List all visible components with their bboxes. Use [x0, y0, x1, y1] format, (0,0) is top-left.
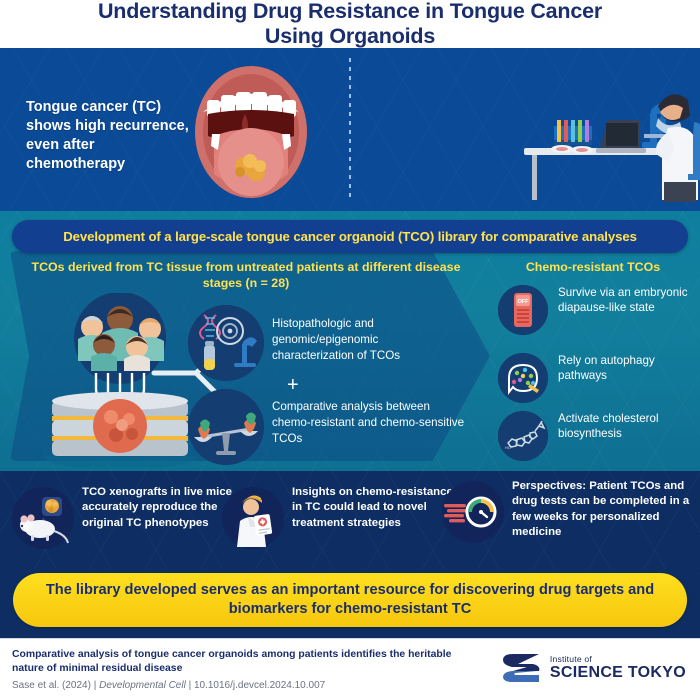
- finding-insights-text: Insights on chemo-resistance in TC could…: [292, 485, 460, 531]
- tongue-cancer-recurrence-text: Tongue cancer (TC) shows high recurrence…: [26, 98, 196, 175]
- main-workflow-panel: Development of a large-scale tongue canc…: [0, 211, 700, 471]
- conclusion-wrapper: The library developed serves as an impor…: [0, 569, 700, 638]
- conclusion-text: The library developed serves as an impor…: [13, 581, 687, 618]
- open-mouth-tongue-tumor-icon: [178, 62, 324, 202]
- footer: Comparative analysis of tongue cancer or…: [0, 638, 700, 700]
- paper-journal: Developmental Cell: [99, 680, 186, 691]
- svg-text:OFF: OFF: [518, 299, 529, 305]
- svg-text:HO: HO: [505, 445, 511, 450]
- dna-microscope-vial-icon: [188, 305, 264, 381]
- characterization-text: Histopathologic and genomic/epigenomic c…: [272, 316, 462, 363]
- chemo-bullet-2-text: Rely on autophagy pathways: [558, 353, 698, 384]
- page-title: Understanding Drug Resistance in Tongue …: [0, 0, 700, 48]
- finding-xenograft-text: TCO xenografts in live mice accurately r…: [82, 485, 244, 531]
- tco-source-heading: TCOs derived from TC tissue from untreat…: [20, 259, 472, 291]
- balance-scale-shields-icon: [188, 389, 264, 465]
- title-text: Understanding Drug Resistance in Tongue …: [98, 0, 602, 49]
- speed-gauge-icon: [442, 481, 504, 543]
- paper-authors: Sase et al. (2024): [12, 680, 91, 691]
- tumor-sphere-small-icon: [45, 499, 59, 513]
- chemo-resistant-heading: Chemo-resistant TCOs: [492, 259, 694, 275]
- title-line-2: Using Organoids: [265, 24, 435, 48]
- findings-strip: TCO xenografts in live mice accurately r…: [0, 471, 700, 569]
- autophagy-cell-icon: [498, 353, 548, 403]
- chemo-bullet-3: HO Activate cholesterol biosynthesis: [498, 411, 698, 463]
- problem-right-half: Establishing cancer cell lines from prim…: [350, 48, 700, 211]
- ref-sep-2: |: [186, 680, 194, 691]
- chemo-bullet-2: Rely on autophagy pathways: [498, 353, 698, 405]
- ref-sep-1: |: [91, 680, 99, 691]
- institution-logo: Institute of SCIENCE TOKYO: [503, 651, 686, 685]
- comparative-analysis-text: Comparative analysis between chemo-resis…: [272, 399, 468, 446]
- conclusion-banner: The library developed serves as an impor…: [13, 573, 687, 627]
- problem-statement-band: Tongue cancer (TC) shows high recurrence…: [0, 48, 700, 211]
- chemo-bullet-1: OFF Survive via an embryonic diapause-li…: [498, 285, 698, 337]
- scientist-microscope-laptop-icon: [518, 70, 700, 202]
- logo-line-2: SCIENCE TOKYO: [550, 665, 686, 681]
- logo-line-1: Institute of: [550, 655, 686, 664]
- paper-title: Comparative analysis of tongue cancer or…: [12, 648, 482, 675]
- doctor-report-icon: [222, 487, 284, 549]
- library-development-banner: Development of a large-scale tongue canc…: [12, 220, 688, 253]
- infographic-page: Understanding Drug Resistance in Tongue …: [0, 0, 700, 700]
- chemo-bullet-3-text: Activate cholesterol biosynthesis: [558, 411, 698, 442]
- chemo-bullet-1-text: Survive via an embryonic diapause-like s…: [558, 285, 698, 316]
- problem-left-half: Tongue cancer (TC) shows high recurrence…: [0, 48, 350, 211]
- organoid-tumor-sphere-icon: [93, 399, 147, 453]
- cholesterol-molecule-icon: HO: [498, 411, 548, 461]
- title-line-1: Understanding Drug Resistance in Tongue …: [98, 0, 602, 23]
- mouse-xenograft-icon: [12, 487, 74, 549]
- vertical-dotted-divider: [349, 58, 351, 201]
- citation-block: Comparative analysis of tongue cancer or…: [12, 648, 482, 691]
- paper-reference: Sase et al. (2024) | Developmental Cell …: [12, 680, 482, 691]
- finding-perspectives-text: Perspectives: Patient TCOs and drug test…: [512, 479, 692, 540]
- science-tokyo-s-mark-icon: [503, 651, 541, 685]
- plus-symbol: +: [287, 374, 299, 397]
- paper-doi: 10.1016/j.devcel.2024.10.007: [194, 680, 325, 691]
- logo-wordmark: Institute of SCIENCE TOKYO: [550, 655, 686, 682]
- banner-text: Development of a large-scale tongue canc…: [63, 229, 637, 244]
- off-switch-icon: OFF: [498, 285, 548, 335]
